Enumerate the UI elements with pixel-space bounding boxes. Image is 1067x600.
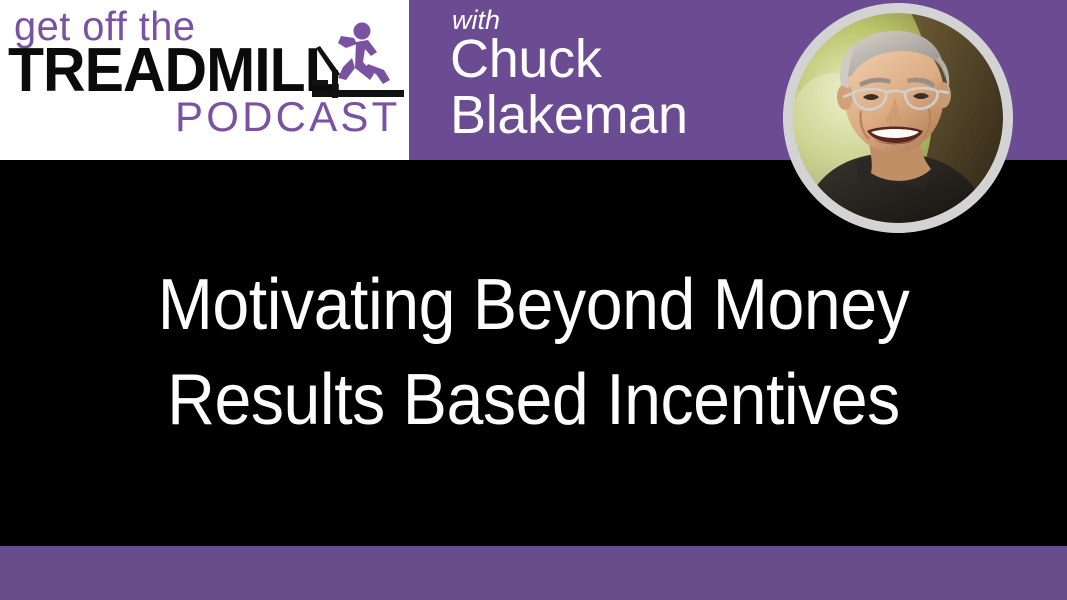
- episode-title-line-2: Results Based Incentives: [43, 353, 1025, 448]
- episode-title-line-1: Motivating Beyond Money: [43, 258, 1025, 353]
- footer-band: [0, 546, 1067, 600]
- treadmill-runner-icon: [310, 18, 410, 110]
- host-last-name: Blakeman: [450, 88, 688, 143]
- avatar: [783, 3, 1013, 233]
- podcast-logo-panel: get off the TREADMILL PODCAST: [0, 0, 409, 160]
- podcast-cover-card: get off the TREADMILL PODCAST with Chuck…: [0, 0, 1067, 600]
- episode-title: Motivating Beyond Money Results Based In…: [0, 258, 1067, 448]
- host-first-name: Chuck: [450, 32, 602, 87]
- host-headshot-photo: [793, 13, 1003, 223]
